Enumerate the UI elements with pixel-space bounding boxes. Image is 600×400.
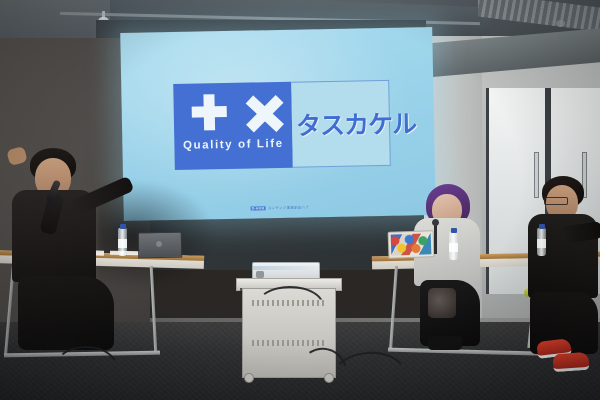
laptop-with-stickers bbox=[388, 230, 433, 257]
water-bottle bbox=[537, 228, 546, 256]
speaker-left bbox=[8, 148, 128, 348]
sneaker bbox=[552, 352, 589, 372]
laptop-logo-icon bbox=[156, 241, 162, 247]
panelist-middle bbox=[412, 184, 496, 354]
water-bottle bbox=[118, 228, 127, 256]
logo-blue-panel: Quality of Life bbox=[173, 82, 293, 170]
cart-vent-icon bbox=[252, 340, 324, 346]
boot bbox=[428, 336, 462, 350]
projector-lens-icon bbox=[256, 271, 264, 278]
hand bbox=[6, 146, 28, 166]
raised-arm bbox=[70, 176, 135, 217]
glasses-icon bbox=[544, 197, 568, 205]
cart-caster bbox=[244, 373, 254, 383]
ceiling-fixture-icon bbox=[556, 20, 565, 27]
water-bottle bbox=[449, 232, 458, 260]
panelist-right bbox=[528, 176, 600, 356]
slide-logo: Quality of Life タスカケル bbox=[173, 80, 391, 170]
bag bbox=[428, 288, 456, 318]
logo-tagline: Quality of Life bbox=[174, 138, 292, 152]
laptop bbox=[138, 232, 180, 257]
slide-footer-text: コンテンツ事業創出ハブ bbox=[268, 205, 309, 210]
desk-microphone-icon bbox=[434, 224, 437, 254]
plus-times-mark-icon bbox=[187, 91, 280, 133]
photo-scene: Quality of Life タスカケル D-HUBコンテンツ事業創出ハブ bbox=[0, 0, 600, 400]
sticker-collage bbox=[391, 233, 432, 255]
logo-light-panel: タスカケル bbox=[291, 80, 391, 168]
slide-footer-badge: D-HUB bbox=[250, 206, 266, 210]
legs bbox=[18, 276, 114, 350]
logo-brand-japanese: タスカケル bbox=[296, 105, 391, 143]
